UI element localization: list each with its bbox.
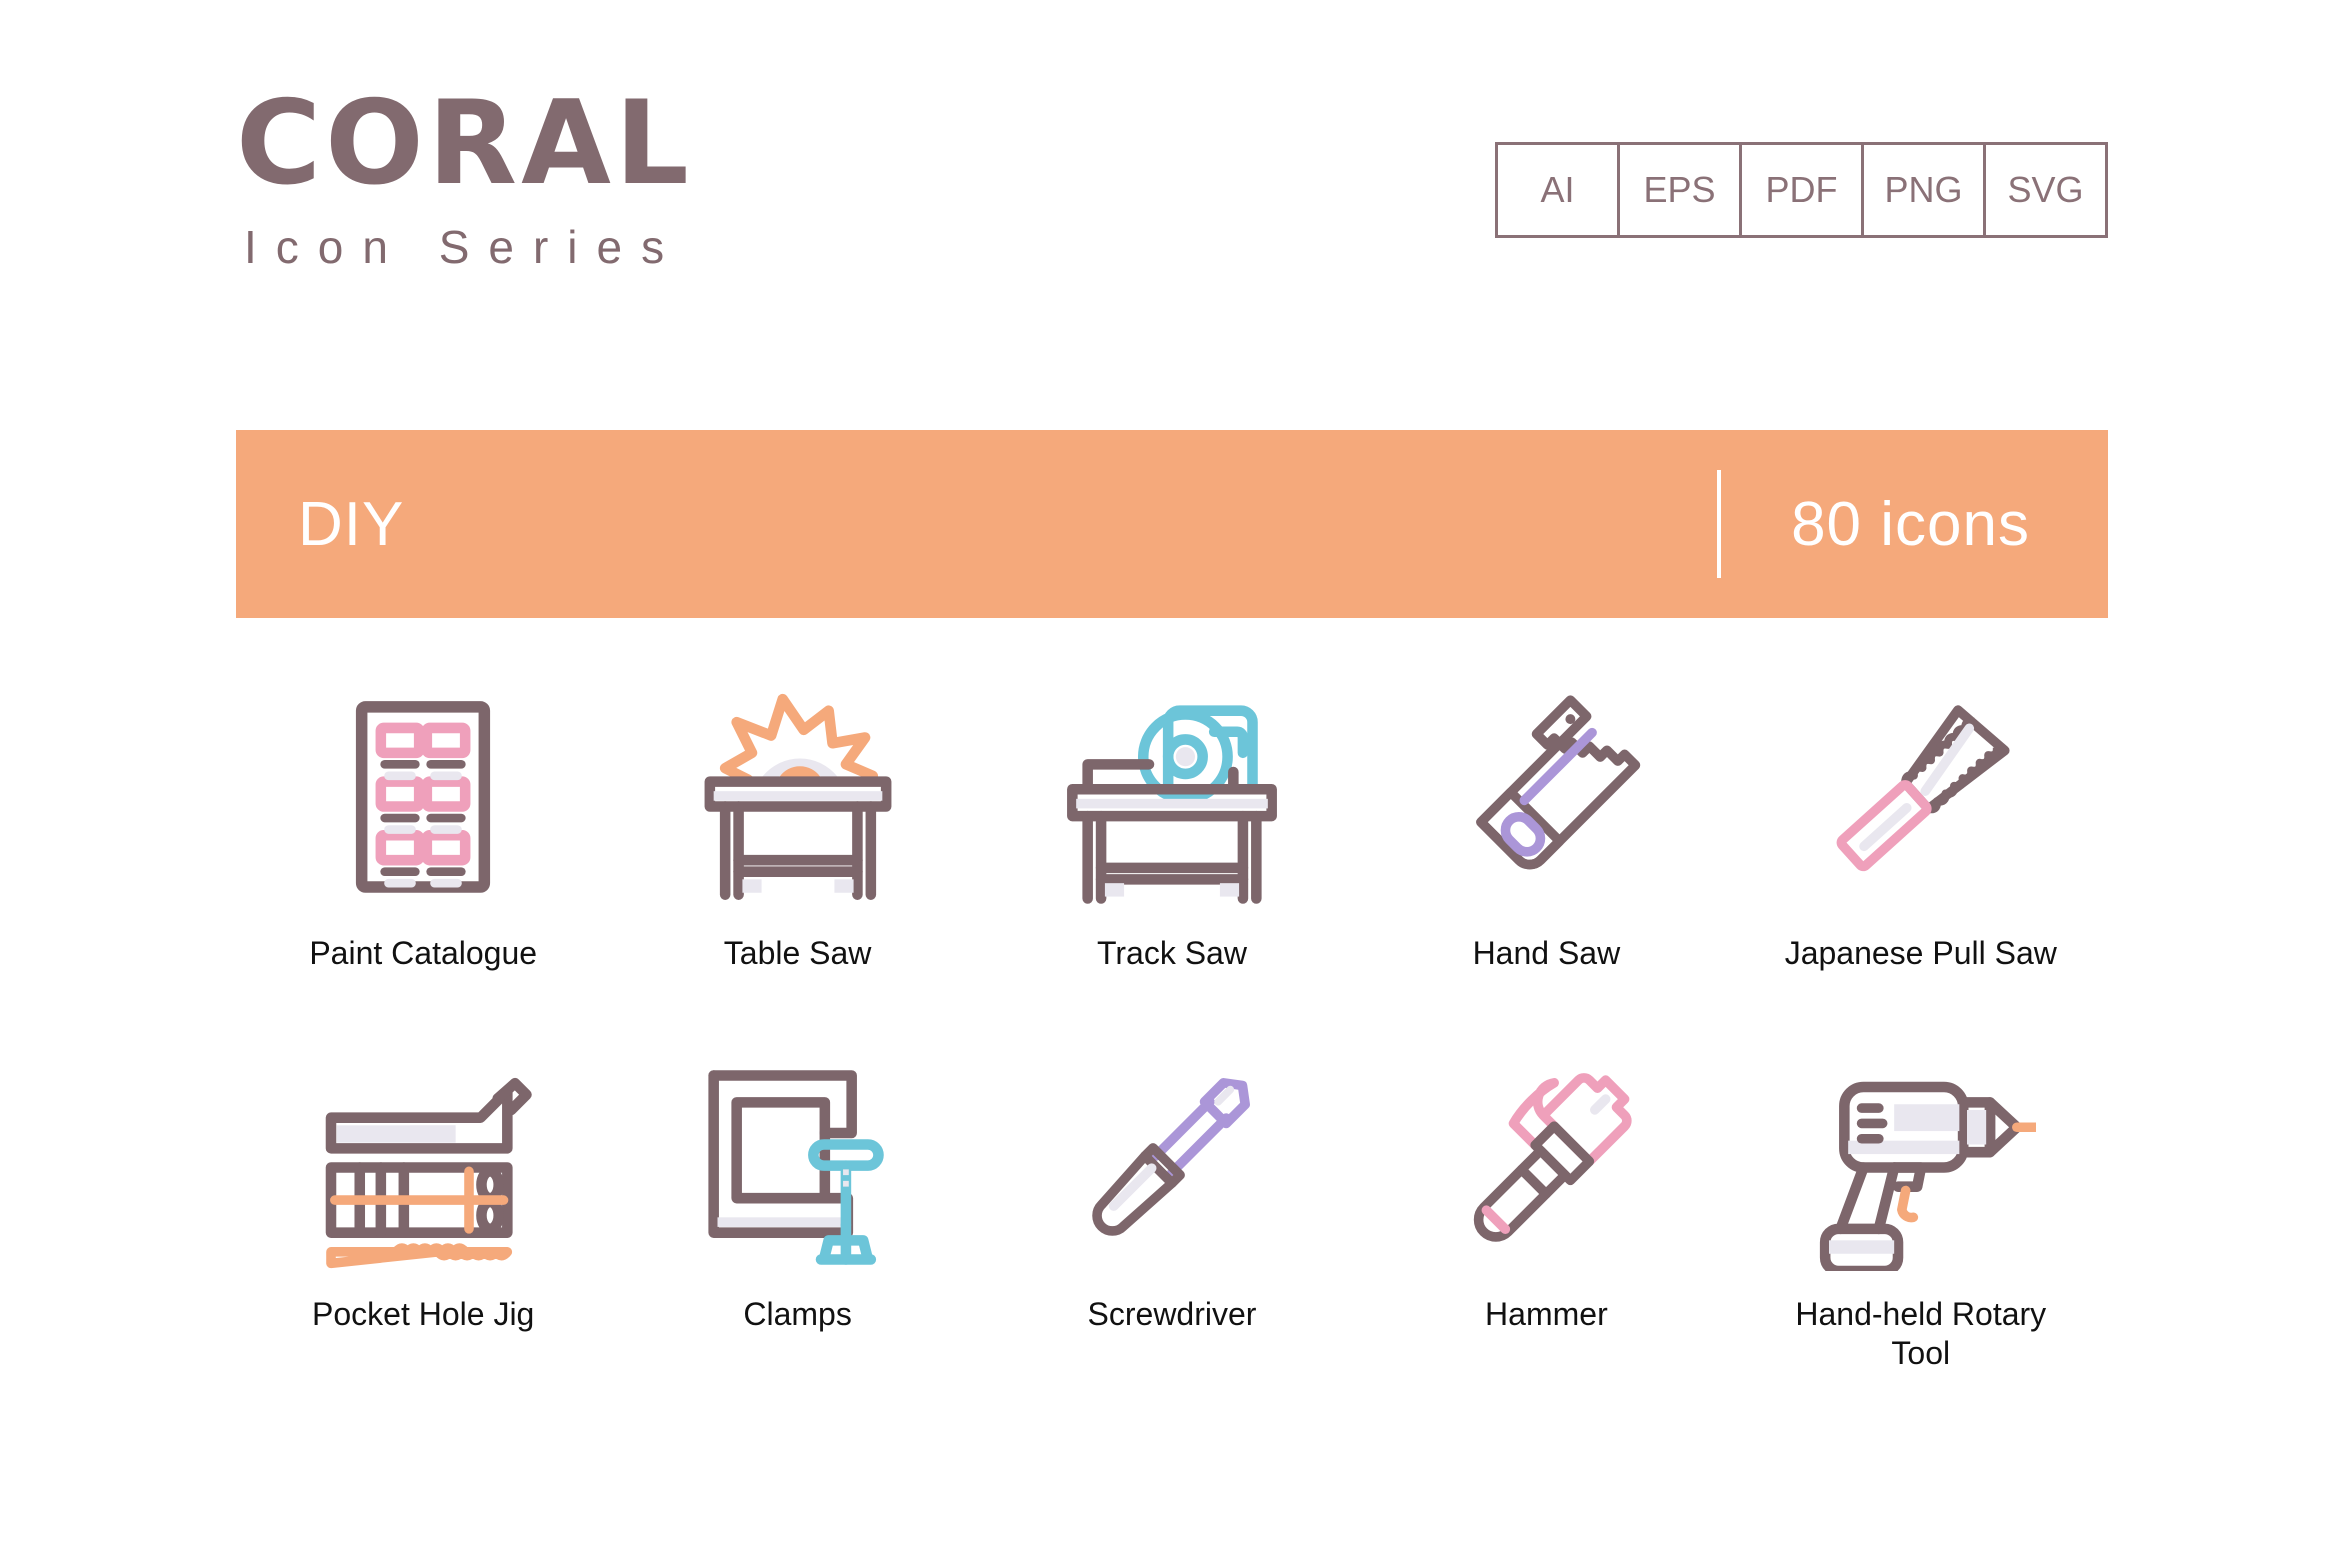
icon-label: Hand Saw (1401, 934, 1691, 973)
icon-cell-hand-held-rotary-tool[interactable]: Hand-held Rotary Tool (1734, 1031, 2108, 1373)
screwdriver-icon (1047, 1031, 1297, 1281)
icon-cell-track-saw[interactable]: Track Saw (985, 670, 1359, 973)
table-saw-icon (673, 670, 923, 920)
icon-cell-japanese-pull-saw[interactable]: Japanese Pull Saw (1734, 670, 2108, 973)
category-name: DIY (298, 489, 404, 560)
format-badge-pdf[interactable]: PDF (1742, 145, 1864, 235)
header: CORAL Icon Series AI EPS PDF PNG SVG (236, 86, 2108, 346)
paint-catalogue-icon (298, 670, 548, 920)
icon-cell-table-saw[interactable]: Table Saw (610, 670, 984, 973)
format-badge-eps[interactable]: EPS (1620, 145, 1742, 235)
icon-cell-hammer[interactable]: Hammer (1359, 1031, 1733, 1373)
icon-label: Paint Catalogue (278, 934, 568, 973)
icon-label: Japanese Pull Saw (1776, 934, 2066, 973)
banner-right-group: 80 icons (1717, 430, 2108, 618)
icon-label: Table Saw (653, 934, 943, 973)
icon-grid: Paint Catalogue (236, 670, 2108, 1373)
icon-cell-screwdriver[interactable]: Screwdriver (985, 1031, 1359, 1373)
format-badge-group: AI EPS PDF PNG SVG (1495, 142, 2108, 238)
icon-label: Hammer (1401, 1295, 1691, 1334)
icon-label: Hand-held Rotary Tool (1776, 1295, 2066, 1373)
pocket-hole-jig-icon (298, 1031, 548, 1281)
icon-label: Clamps (653, 1295, 943, 1334)
category-banner: DIY 80 icons (236, 430, 2108, 618)
format-badge-png[interactable]: PNG (1864, 145, 1986, 235)
icon-cell-paint-catalogue[interactable]: Paint Catalogue (236, 670, 610, 973)
icon-cell-pocket-hole-jig[interactable]: Pocket Hole Jig (236, 1031, 610, 1373)
clamps-icon (673, 1031, 923, 1281)
hammer-icon (1421, 1031, 1671, 1281)
banner-divider (1717, 470, 1721, 578)
hand-held-rotary-tool-icon (1796, 1031, 2046, 1281)
icon-label: Screwdriver (1027, 1295, 1317, 1334)
icon-cell-hand-saw[interactable]: Hand Saw (1359, 670, 1733, 973)
icon-set-preview-page: CORAL Icon Series AI EPS PDF PNG SVG DIY… (0, 0, 2340, 1560)
japanese-pull-saw-icon (1796, 670, 2046, 920)
icon-cell-clamps[interactable]: Clamps (610, 1031, 984, 1373)
icon-label: Pocket Hole Jig (278, 1295, 568, 1334)
format-badge-svg[interactable]: SVG (1986, 145, 2105, 235)
icon-count: 80 icons (1791, 489, 2030, 560)
format-badge-ai[interactable]: AI (1498, 145, 1620, 235)
track-saw-icon (1047, 670, 1297, 920)
hand-saw-icon (1421, 670, 1671, 920)
icon-label: Track Saw (1027, 934, 1317, 973)
